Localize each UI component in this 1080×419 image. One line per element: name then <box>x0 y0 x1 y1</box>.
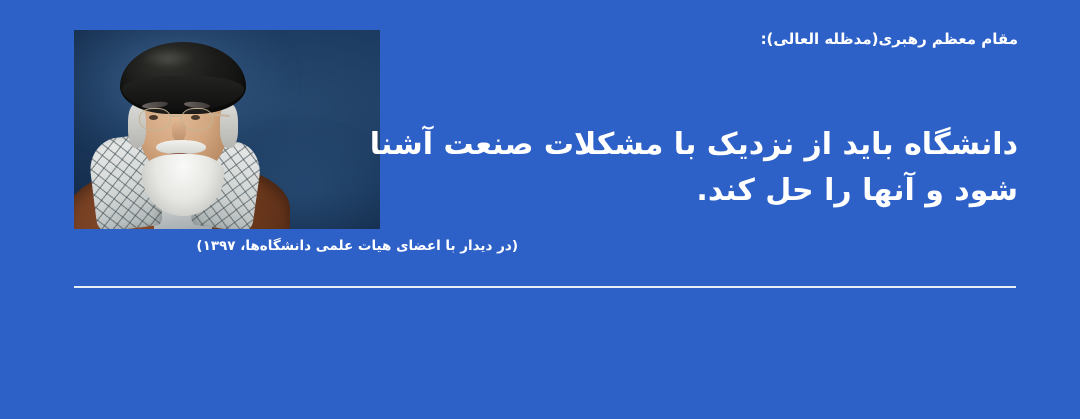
leader-quote-banner: مقام معظم رهبری(مدظله العالی): دانشگاه ب… <box>0 0 1080 419</box>
sideburn-right <box>220 104 238 148</box>
leader-portrait-image <box>74 30 380 229</box>
quote-line-2: را حل کند. <box>696 173 851 208</box>
horizontal-divider <box>74 286 1016 288</box>
quote-source-caption: (در دیدار با اعضای هیات علمی دانشگاه‌ها،… <box>196 238 518 254</box>
portrait-figure <box>80 30 280 229</box>
quote-line-1: دانشگاه باید از نزدیک با مشکلات صنعت آشن… <box>370 127 1018 208</box>
eyeglasses-bridge <box>169 115 181 117</box>
eyeglasses-lens-left <box>139 108 171 131</box>
quote-text: دانشگاه باید از نزدیک با مشکلات صنعت آشن… <box>358 122 1018 213</box>
nose-shape <box>172 120 186 142</box>
leader-title-heading: مقام معظم رهبری(مدظله العالی): <box>761 27 1018 51</box>
turban-highlight <box>142 48 194 68</box>
moustache-shape <box>156 140 206 154</box>
